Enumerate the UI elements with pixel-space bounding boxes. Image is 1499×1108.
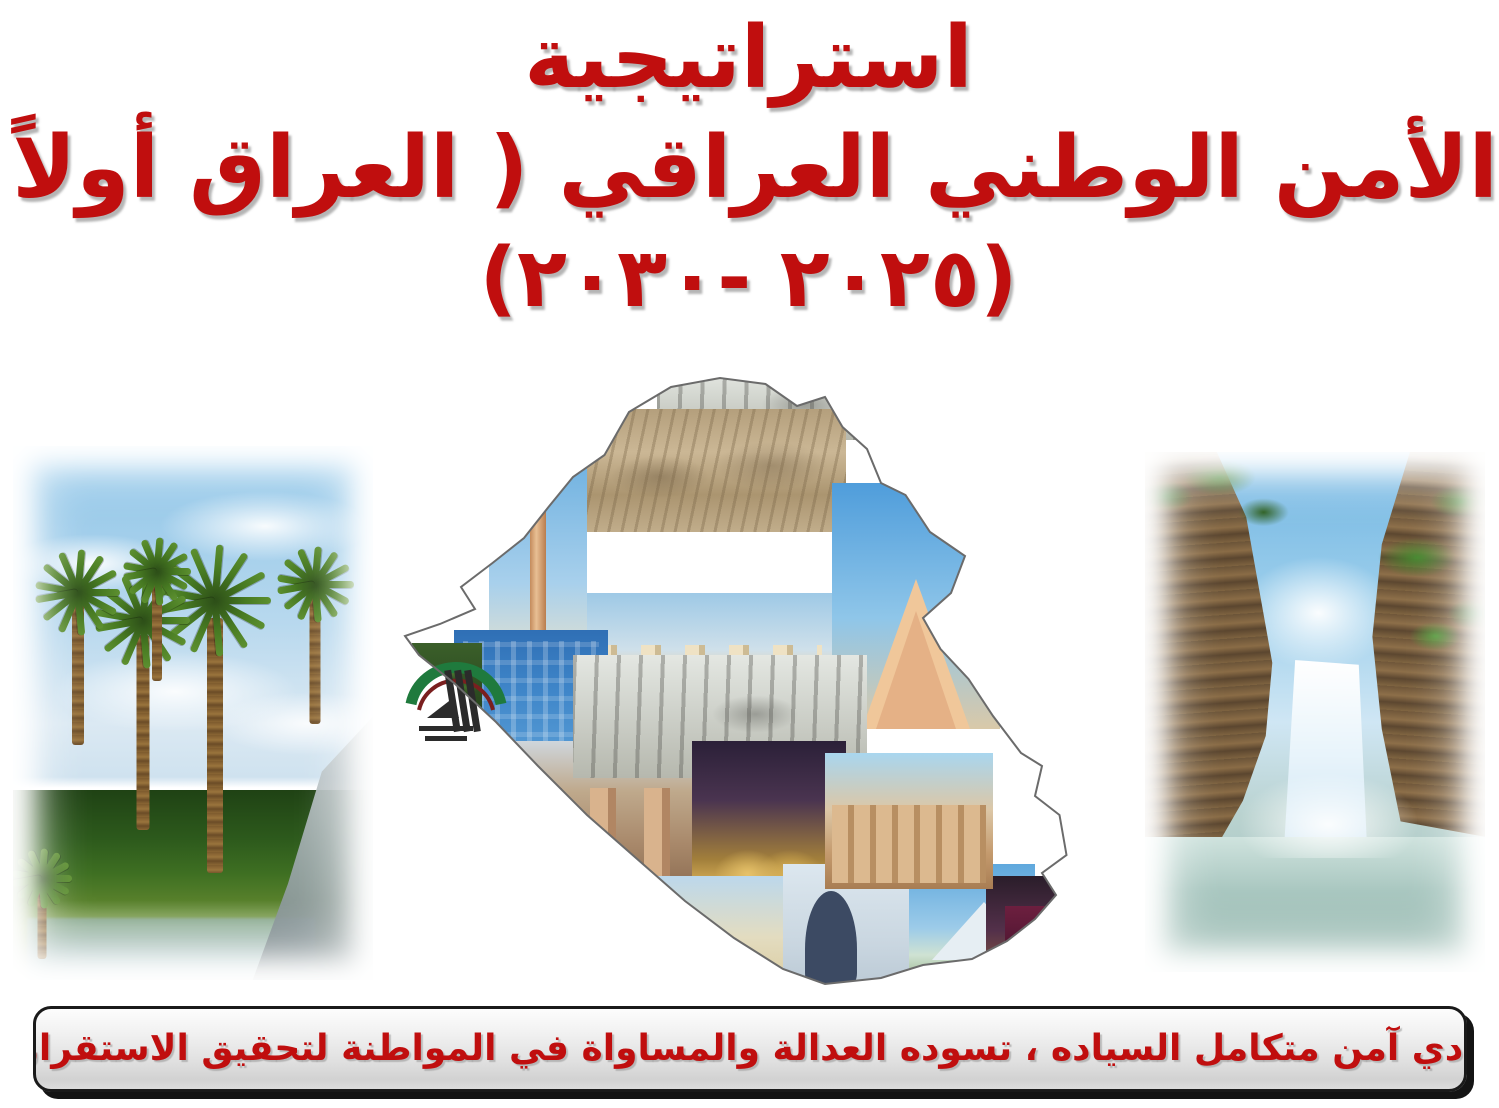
palm-grove-photo — [14, 446, 374, 980]
palm-crown — [279, 559, 353, 603]
collage-tile: Erbil citadel — [826, 753, 994, 888]
title-line-strategy: استراتيجية — [0, 0, 1499, 112]
waterfall-foliage-left — [1146, 452, 1302, 577]
waterfall-photo — [1146, 452, 1486, 972]
palm-trunk — [208, 618, 224, 873]
palm-tree — [14, 858, 72, 959]
waterfall-mist — [1241, 774, 1418, 857]
title-line-subject: الأمن الوطني العراقي ( العراق أولاً ) — [0, 112, 1499, 224]
palm-crown — [38, 564, 120, 613]
palm-crown — [14, 858, 72, 893]
iraq-map-collage: Mountain ridgeAssyrian stone reliefMinar… — [392, 372, 1092, 987]
palm-tree — [125, 548, 191, 681]
title-line-period: (٢٠٢٥ -٢٠٣٠) — [0, 224, 1499, 334]
collage-tile: Assyrian stone relief — [581, 409, 847, 532]
collage-tile: Interior hall — [987, 876, 1092, 987]
palm-tree — [38, 564, 120, 745]
collage-tile: Imam Hussein shrine, Karbala — [476, 876, 630, 987]
vision-statement-text: عراق اتحادي آمن متكامل السياده ، تسوده ا… — [34, 1029, 1468, 1069]
palm-crown — [125, 548, 191, 588]
collage-tile: Imam Ali shrine, Najaf — [630, 876, 784, 987]
page-title: استراتيجية الأمن الوطني العراقي ( العراق… — [0, 0, 1499, 334]
palm-tree — [279, 559, 353, 724]
vision-banner: عراق اتحادي آمن متكامل السياده ، تسوده ا… — [34, 1006, 1468, 1092]
national-emblem — [398, 640, 516, 762]
